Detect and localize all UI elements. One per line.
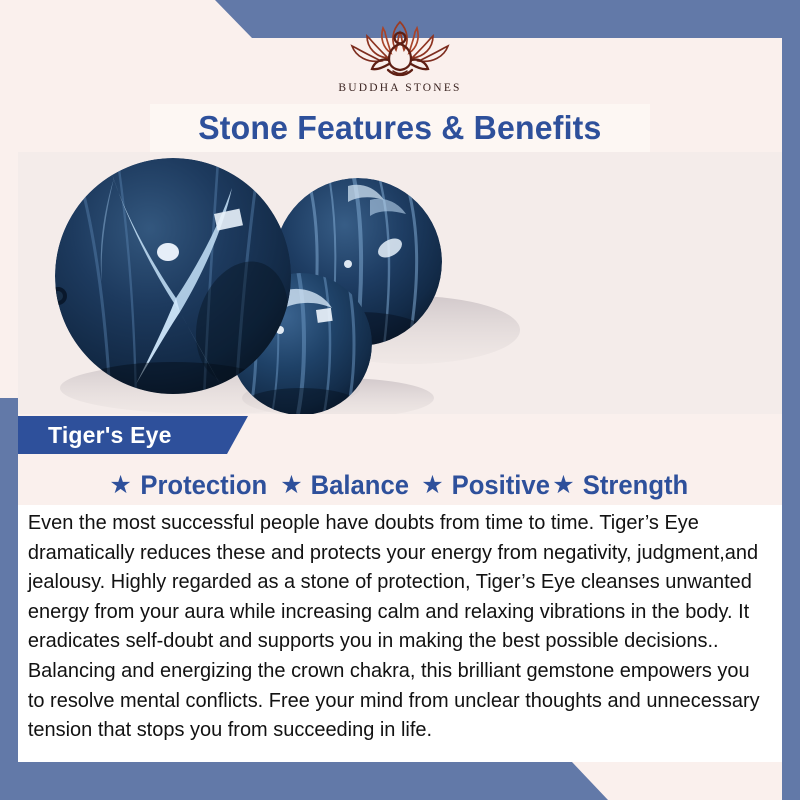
stone-photo	[18, 152, 782, 414]
benefit-item-strength: ★ Strength	[552, 470, 690, 501]
benefit-label: Strength	[582, 470, 687, 501]
benefits-row: ★ Protection ★ Balance ★ Positive ★ Stre…	[18, 466, 782, 504]
infographic-card: BUDDHA STONES Stone Features & Benefits	[0, 0, 800, 800]
description-text: Even the most successful people have dou…	[18, 505, 771, 746]
benefit-item-protection: ★ Protection	[109, 470, 270, 501]
benefit-item-balance: ★ Balance	[280, 470, 411, 501]
stone-name-banner: Tiger's Eye	[18, 416, 248, 454]
star-icon: ★	[280, 473, 302, 498]
frame-left-bar	[0, 398, 18, 800]
brand-logo: BUDDHA STONES	[0, 14, 800, 94]
star-icon: ★	[421, 473, 443, 498]
page-title-banner: Stone Features & Benefits	[150, 104, 650, 152]
benefit-label: Positive	[451, 470, 549, 501]
benefit-label: Protection	[140, 470, 267, 501]
stone-name-label: Tiger's Eye	[18, 422, 172, 449]
lotus-meditation-icon	[336, 14, 464, 80]
benefit-item-positive: ★ Positive	[421, 470, 552, 501]
blue-tigers-eye-spheres-image	[18, 152, 782, 414]
brand-wordmark: BUDDHA STONES	[338, 82, 461, 94]
description-panel: Even the most successful people have dou…	[18, 505, 782, 762]
page-title: Stone Features & Benefits	[198, 109, 601, 147]
star-icon: ★	[109, 473, 131, 498]
benefit-label: Balance	[310, 470, 408, 501]
frame-bottom-bar	[0, 762, 800, 800]
star-icon: ★	[552, 473, 574, 498]
frame-right-bar	[782, 0, 800, 800]
